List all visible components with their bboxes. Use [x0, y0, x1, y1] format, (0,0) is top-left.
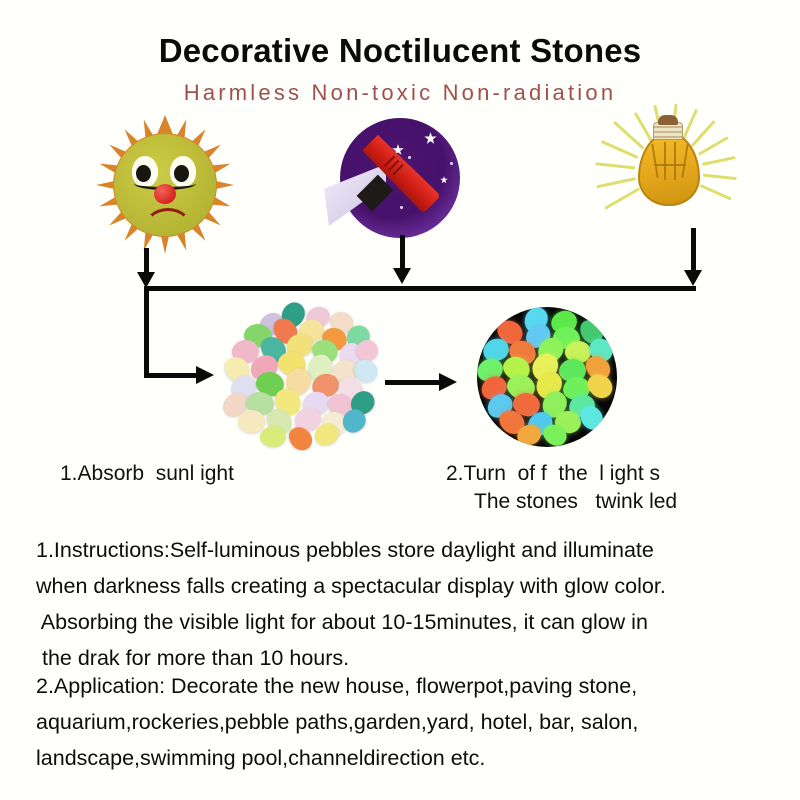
arrow-head-to-day-pebbles	[196, 366, 214, 384]
bulb-ray	[595, 162, 635, 169]
star-icon	[424, 132, 437, 145]
arrow-shaft-day-to-night	[385, 380, 441, 385]
collector-bar	[144, 286, 696, 291]
pastel-pebbles-image	[222, 302, 380, 448]
infographic-page: Decorative Noctilucent Stones Harmless N…	[0, 0, 800, 800]
arrow-shaft-bulb	[691, 228, 696, 274]
page-subtitle: Harmless Non-toxic Non-radiation	[0, 80, 800, 106]
arrow-shaft-uv	[400, 235, 405, 271]
sun-icon	[95, 115, 235, 255]
bulb-ray	[601, 140, 639, 159]
bulb-ray	[703, 174, 737, 181]
sun-frown-mouth	[144, 208, 192, 228]
arrow-head-bulb	[684, 270, 702, 286]
sun-nose	[154, 184, 176, 204]
arrow-head-day-to-night	[439, 373, 457, 391]
bulb-cap	[658, 115, 678, 125]
pebble	[260, 426, 286, 447]
arrow-head-uv	[393, 268, 411, 284]
bulb-ray	[691, 120, 716, 147]
star-icon	[440, 176, 448, 184]
bulb-ray	[604, 187, 640, 210]
bulb-ray	[596, 177, 636, 188]
sun-face	[114, 134, 216, 236]
pebble	[356, 340, 379, 362]
descender-line	[144, 286, 149, 378]
step-2-caption-line1: 2.Turn of f the l ight s	[446, 462, 660, 486]
star-dot	[408, 156, 411, 159]
bulb-ray	[634, 112, 654, 143]
star-dot	[400, 206, 403, 209]
arrow-shaft-to-day-pebbles	[144, 373, 198, 378]
instructions-paragraph: 1.Instructions:Self-luminous pebbles sto…	[36, 532, 666, 676]
application-paragraph: 2.Application: Decorate the new house, f…	[36, 668, 638, 776]
bulb-ray	[681, 109, 698, 141]
light-bulb-icon	[596, 108, 746, 253]
glowing-pebbles-image	[477, 307, 617, 447]
step-2-caption-line2: The stones twink led	[474, 490, 677, 514]
bulb-ray	[698, 136, 729, 156]
uv-flashlight-icon	[318, 112, 470, 262]
bulb-ray	[702, 156, 736, 166]
step-1-caption: 1.Absorb sunl ight	[60, 462, 234, 486]
bulb-ray	[699, 184, 731, 201]
page-title: Decorative Noctilucent Stones	[0, 32, 800, 70]
star-dot	[450, 162, 453, 165]
